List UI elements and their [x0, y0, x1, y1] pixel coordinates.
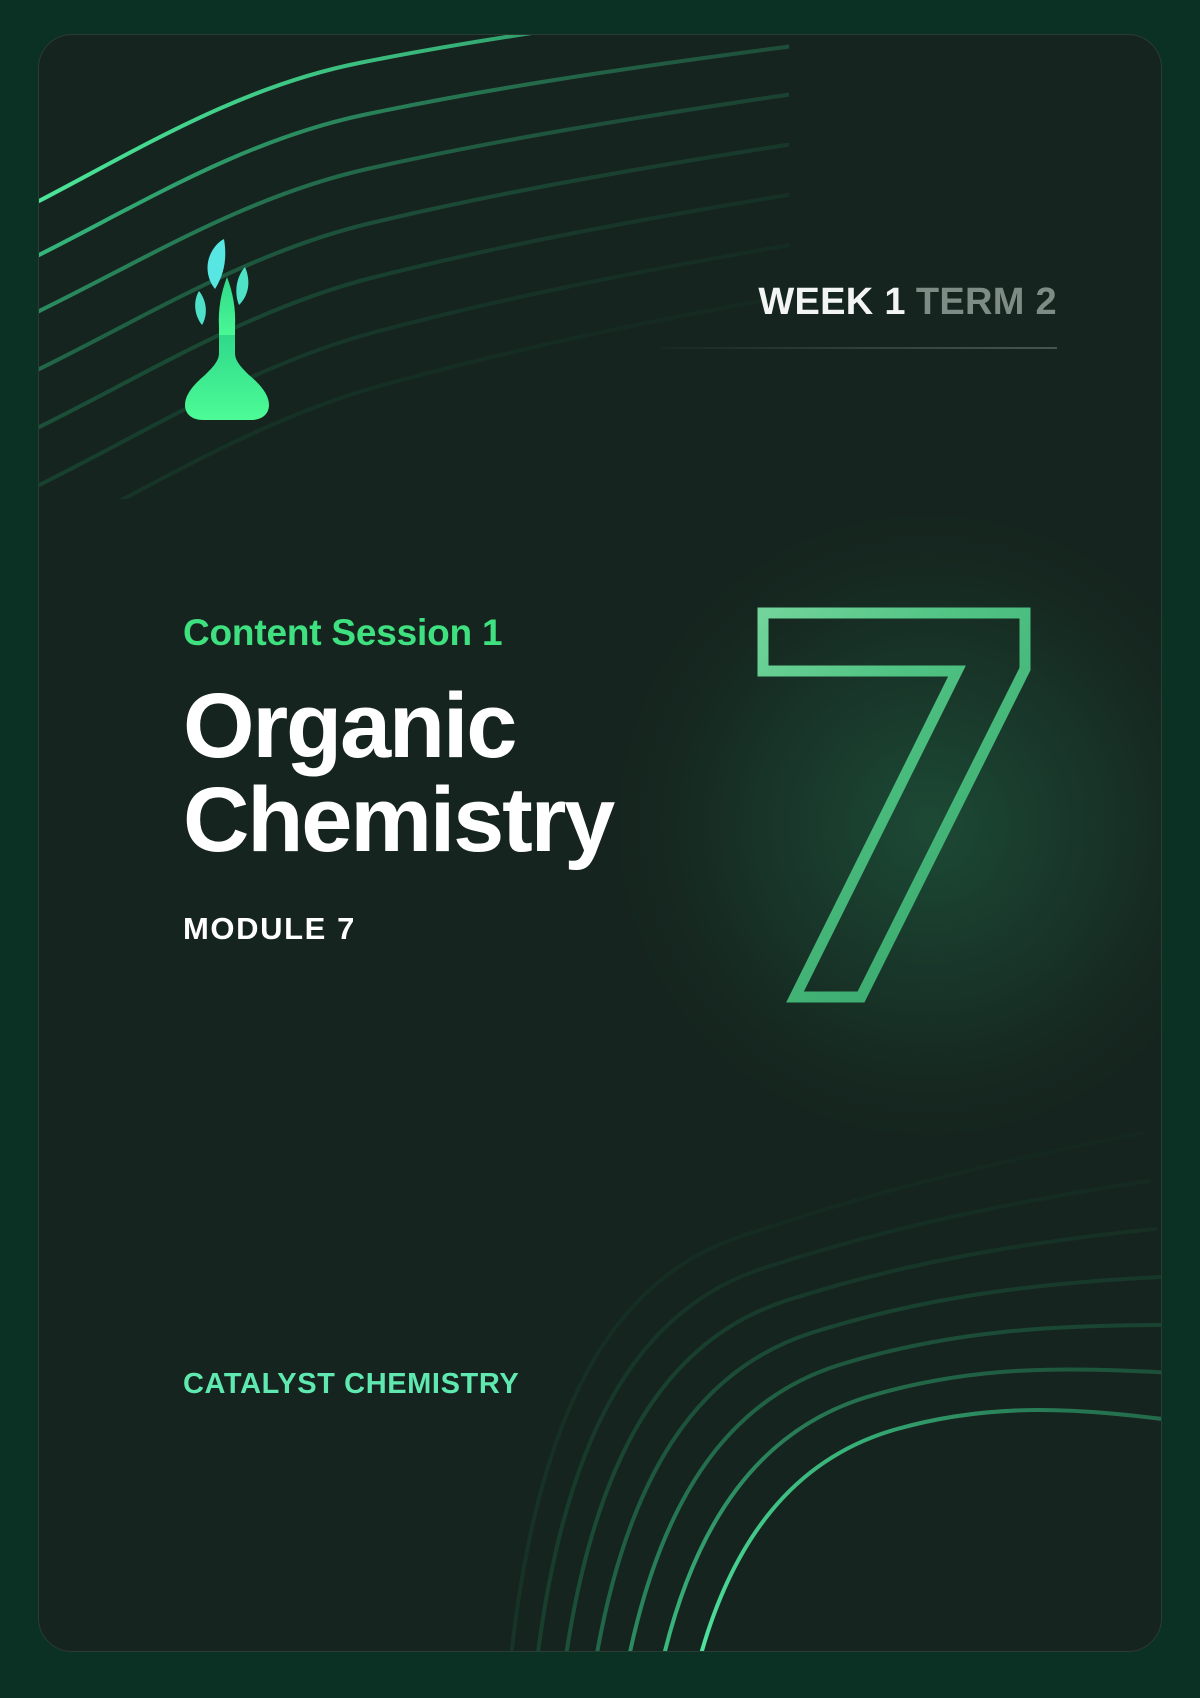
- session-eyebrow: Content Session 1: [183, 613, 743, 654]
- week-label: WEEK 1: [758, 281, 906, 323]
- cover-page: WEEK 1TERM 2 Content Session 1 Organic C…: [0, 0, 1200, 1698]
- module-label: MODULE 7: [183, 911, 743, 947]
- term-label: TERM 2: [916, 281, 1057, 323]
- header-block: WEEK 1TERM 2: [661, 283, 1057, 349]
- week-term-line: WEEK 1TERM 2: [661, 283, 1057, 321]
- wave-lines-bottom-right-icon: [467, 1037, 1162, 1652]
- title-line-1: Organic: [183, 675, 515, 777]
- page-title: Organic Chemistry: [183, 680, 743, 868]
- chemistry-flask-flame-icon: [177, 231, 277, 421]
- title-block: Content Session 1 Organic Chemistry MODU…: [183, 613, 743, 947]
- wave-lines-top-left-icon: [38, 34, 789, 499]
- module-number-outline: [729, 595, 1059, 1015]
- title-line-2: Chemistry: [183, 769, 613, 871]
- cover-card: WEEK 1TERM 2 Content Session 1 Organic C…: [38, 34, 1162, 1652]
- header-divider: [661, 347, 1057, 349]
- footer-brand: CATALYST CHEMISTRY: [183, 1368, 519, 1401]
